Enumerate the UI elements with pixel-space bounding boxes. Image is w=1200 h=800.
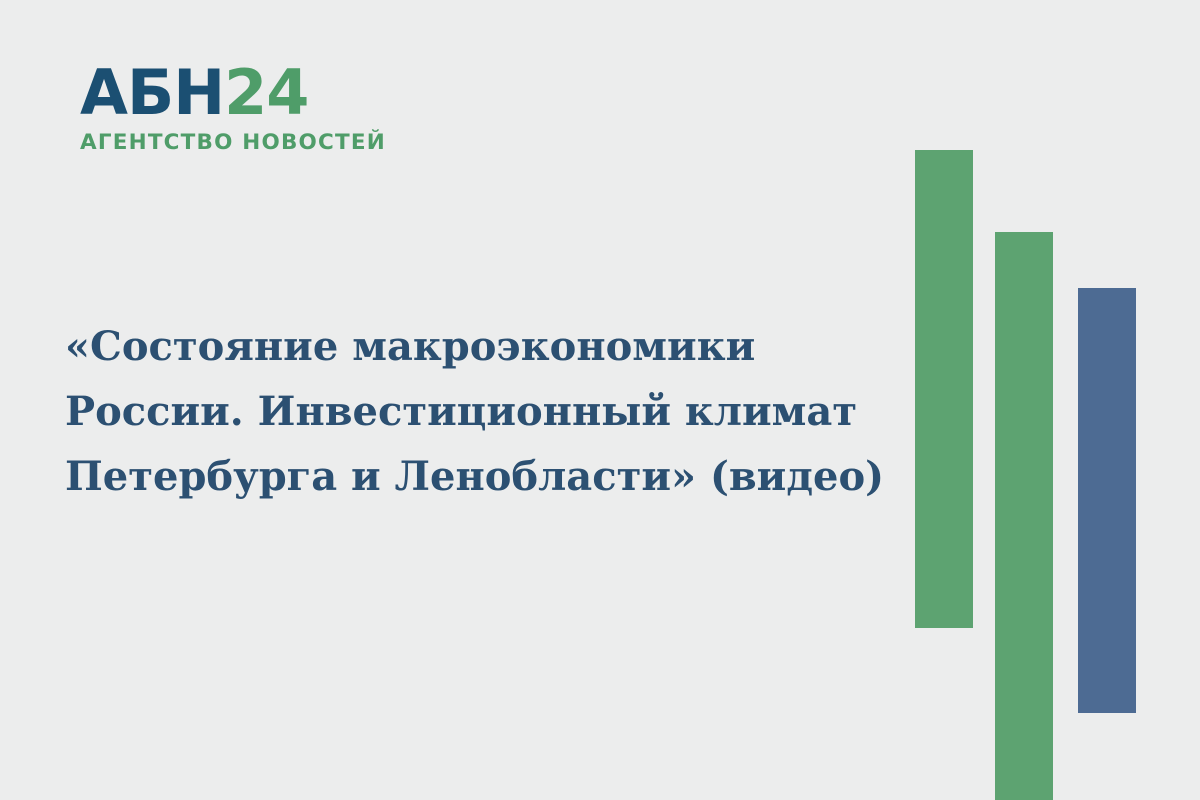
bar-green-tall (915, 150, 973, 628)
site-logo: АБН24 АГЕНТСТВО НОВОСТЕЙ (80, 62, 370, 162)
logo-wordmark: АБН24 (80, 62, 370, 124)
bar-blue (1078, 288, 1136, 713)
bar-green-mid (995, 232, 1053, 800)
logo-brand-accent: 24 (224, 56, 308, 129)
poster-canvas: АБН24 АГЕНТСТВО НОВОСТЕЙ «Состояние макр… (0, 0, 1200, 800)
logo-tagline: АГЕНТСТВО НОВОСТЕЙ (80, 130, 370, 155)
logo-brand-primary: АБН (80, 56, 224, 129)
page-title: «Состояние макроэкономики России. Инвест… (65, 315, 895, 509)
